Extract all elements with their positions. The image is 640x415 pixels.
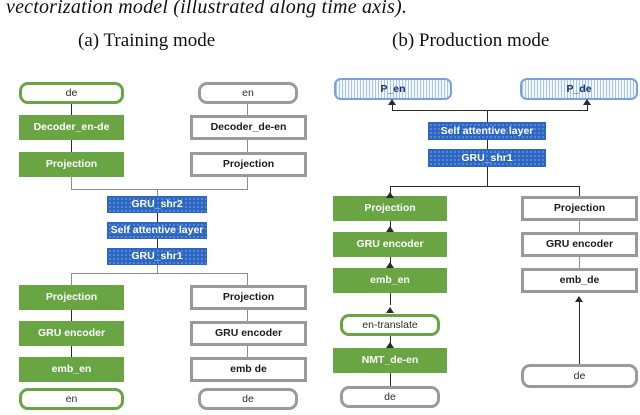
edge-a-split-right <box>247 273 248 285</box>
node-label: Projection <box>362 203 417 214</box>
edge-a-split-down <box>157 265 158 273</box>
edge-b-de-emb-right <box>579 302 580 364</box>
edge-a-left-de-decoder <box>71 104 72 115</box>
node-label: en-translate <box>360 320 419 331</box>
node-a-decoder-en-de: Decoder_en-de <box>19 115 124 140</box>
node-label: Self attentive layer <box>439 126 536 137</box>
node-label: en <box>240 88 256 99</box>
node-b-emb-en: emb_en <box>333 268 447 293</box>
node-label: de <box>572 371 588 382</box>
node-label: GRU_shr1 <box>459 153 514 164</box>
node-label: GRU encoder <box>544 239 615 250</box>
node-b-gru-shr1: GRU_shr1 <box>428 149 546 167</box>
edge-a-gru-emb-right <box>247 346 248 357</box>
node-b-gru-encoder-left: GRU encoder <box>333 232 447 257</box>
edge-b-split-right <box>579 186 580 196</box>
node-a-gru-encoder-left: GRU encoder <box>19 321 124 346</box>
edge-a-split-bar <box>71 273 248 274</box>
node-label: de <box>64 88 80 99</box>
subfigure-caption-a: (a) Training mode <box>78 30 215 52</box>
subfigure-caption-b: (b) Production mode <box>392 30 549 52</box>
node-a-right-de: de <box>198 388 298 410</box>
node-label: NMT_de-en <box>360 355 421 366</box>
arrowhead-b-p-de <box>583 99 591 105</box>
node-label: GRU encoder <box>36 328 107 339</box>
node-label: de <box>382 392 398 403</box>
node-b-p-de: P_de <box>520 78 638 100</box>
node-label: Self attentive layer <box>109 225 206 236</box>
edge-a-proj-gru-right <box>247 310 248 321</box>
node-b-projection-right: Projection <box>521 196 638 221</box>
edge-a-merge-left-stub <box>71 177 72 189</box>
node-label: Projection <box>552 203 607 214</box>
node-a-left-de: de <box>19 82 124 104</box>
node-label: GRU_shr1 <box>129 251 184 262</box>
arrowhead-b-en-translate <box>386 307 394 313</box>
edge-a-split-left <box>71 273 72 285</box>
edge-b-gru-emb-right <box>579 257 580 268</box>
node-b-projection-left: Projection <box>333 196 447 221</box>
edge-b-proj-gru-right <box>579 221 580 232</box>
node-label: P_de <box>564 84 593 95</box>
node-label: Projection <box>44 159 99 170</box>
node-label: GRU encoder <box>213 328 284 339</box>
node-label: emb de <box>228 364 269 375</box>
arrowhead-b-projection-left <box>386 192 394 198</box>
arrowhead-b-nmt <box>386 342 394 348</box>
node-a-emb-en: emb_en <box>19 357 124 382</box>
node-label: Decoder_de-en <box>209 122 289 133</box>
node-label: Projection <box>221 159 276 170</box>
edge-b-attn-shr1 <box>487 140 488 149</box>
node-label: P_en <box>378 84 407 95</box>
node-b-self-attentive-layer: Self attentive layer <box>428 122 546 140</box>
node-a-right-en: en <box>198 82 298 104</box>
arrowhead-b-emb-en <box>386 262 394 268</box>
arrowhead-b-gru-encoder-left <box>386 226 394 232</box>
edge-b-emb-translate <box>390 293 391 305</box>
node-label: en <box>64 394 80 405</box>
node-a-projection-top-left: Projection <box>19 152 124 177</box>
node-label: Decoder_en-de <box>32 122 112 133</box>
edge-a-merge-bar <box>71 189 248 190</box>
node-b-en-translate: en-translate <box>340 314 440 336</box>
edge-b-output-right-stub <box>587 104 588 111</box>
node-a-projection-bottom-left: Projection <box>19 285 124 310</box>
edge-a-gru-emb-left <box>71 346 72 357</box>
node-a-gru-shr2: GRU_shr2 <box>107 196 207 213</box>
node-label: emb_de <box>558 275 602 286</box>
node-label: emb_en <box>50 364 94 375</box>
figure-caption-continuation: vectorization model (illustrated along t… <box>6 0 636 19</box>
edge-a-right-en-decoder <box>247 104 248 115</box>
edge-a-merge-down <box>157 189 158 196</box>
arrowhead-b-emb-de <box>575 296 583 302</box>
node-a-left-en: en <box>19 388 124 410</box>
node-b-p-en: P_en <box>334 78 452 100</box>
node-label: emb_en <box>368 275 412 286</box>
edge-b-attn-up <box>487 110 488 122</box>
edge-b-split-down <box>487 167 488 186</box>
edge-a-right-decoder-projection <box>247 140 248 152</box>
node-b-nmt-de-en: NMT_de-en <box>333 348 447 373</box>
node-b-gru-encoder-right: GRU encoder <box>521 232 638 257</box>
node-b-de-input-left: de <box>340 386 440 408</box>
edge-a-decoder-projection <box>71 140 72 152</box>
node-a-projection-bottom-right: Projection <box>190 285 307 310</box>
arrowhead-b-p-en <box>388 99 396 105</box>
node-a-emb-de: emb de <box>190 357 307 382</box>
node-a-self-attentive-layer: Self attentive layer <box>107 222 207 239</box>
edge-b-split-bar <box>390 186 580 187</box>
figure-canvas: vectorization model (illustrated along t… <box>0 0 640 415</box>
node-label: de <box>240 394 256 405</box>
node-b-de-input-right: de <box>521 364 638 388</box>
node-label: Projection <box>221 292 276 303</box>
edge-b-output-left-stub <box>392 104 393 111</box>
node-label: Projection <box>44 292 99 303</box>
edge-a-proj-gru-left <box>71 310 72 321</box>
node-label: GRU_shr2 <box>129 199 184 210</box>
node-a-decoder-de-en: Decoder_de-en <box>190 115 307 140</box>
node-a-gru-shr1: GRU_shr1 <box>107 248 207 265</box>
edge-b-de-nmt <box>390 373 391 386</box>
node-label: GRU encoder <box>354 239 425 250</box>
node-b-emb-de: emb_de <box>521 268 638 293</box>
node-a-projection-top-right: Projection <box>190 152 307 177</box>
edge-a-shr2-attn <box>157 213 158 222</box>
edge-a-attn-shr1 <box>157 239 158 248</box>
node-a-gru-encoder-right: GRU encoder <box>190 321 307 346</box>
edge-b-output-bar <box>392 110 588 111</box>
edge-a-merge-right-stub <box>247 177 248 189</box>
